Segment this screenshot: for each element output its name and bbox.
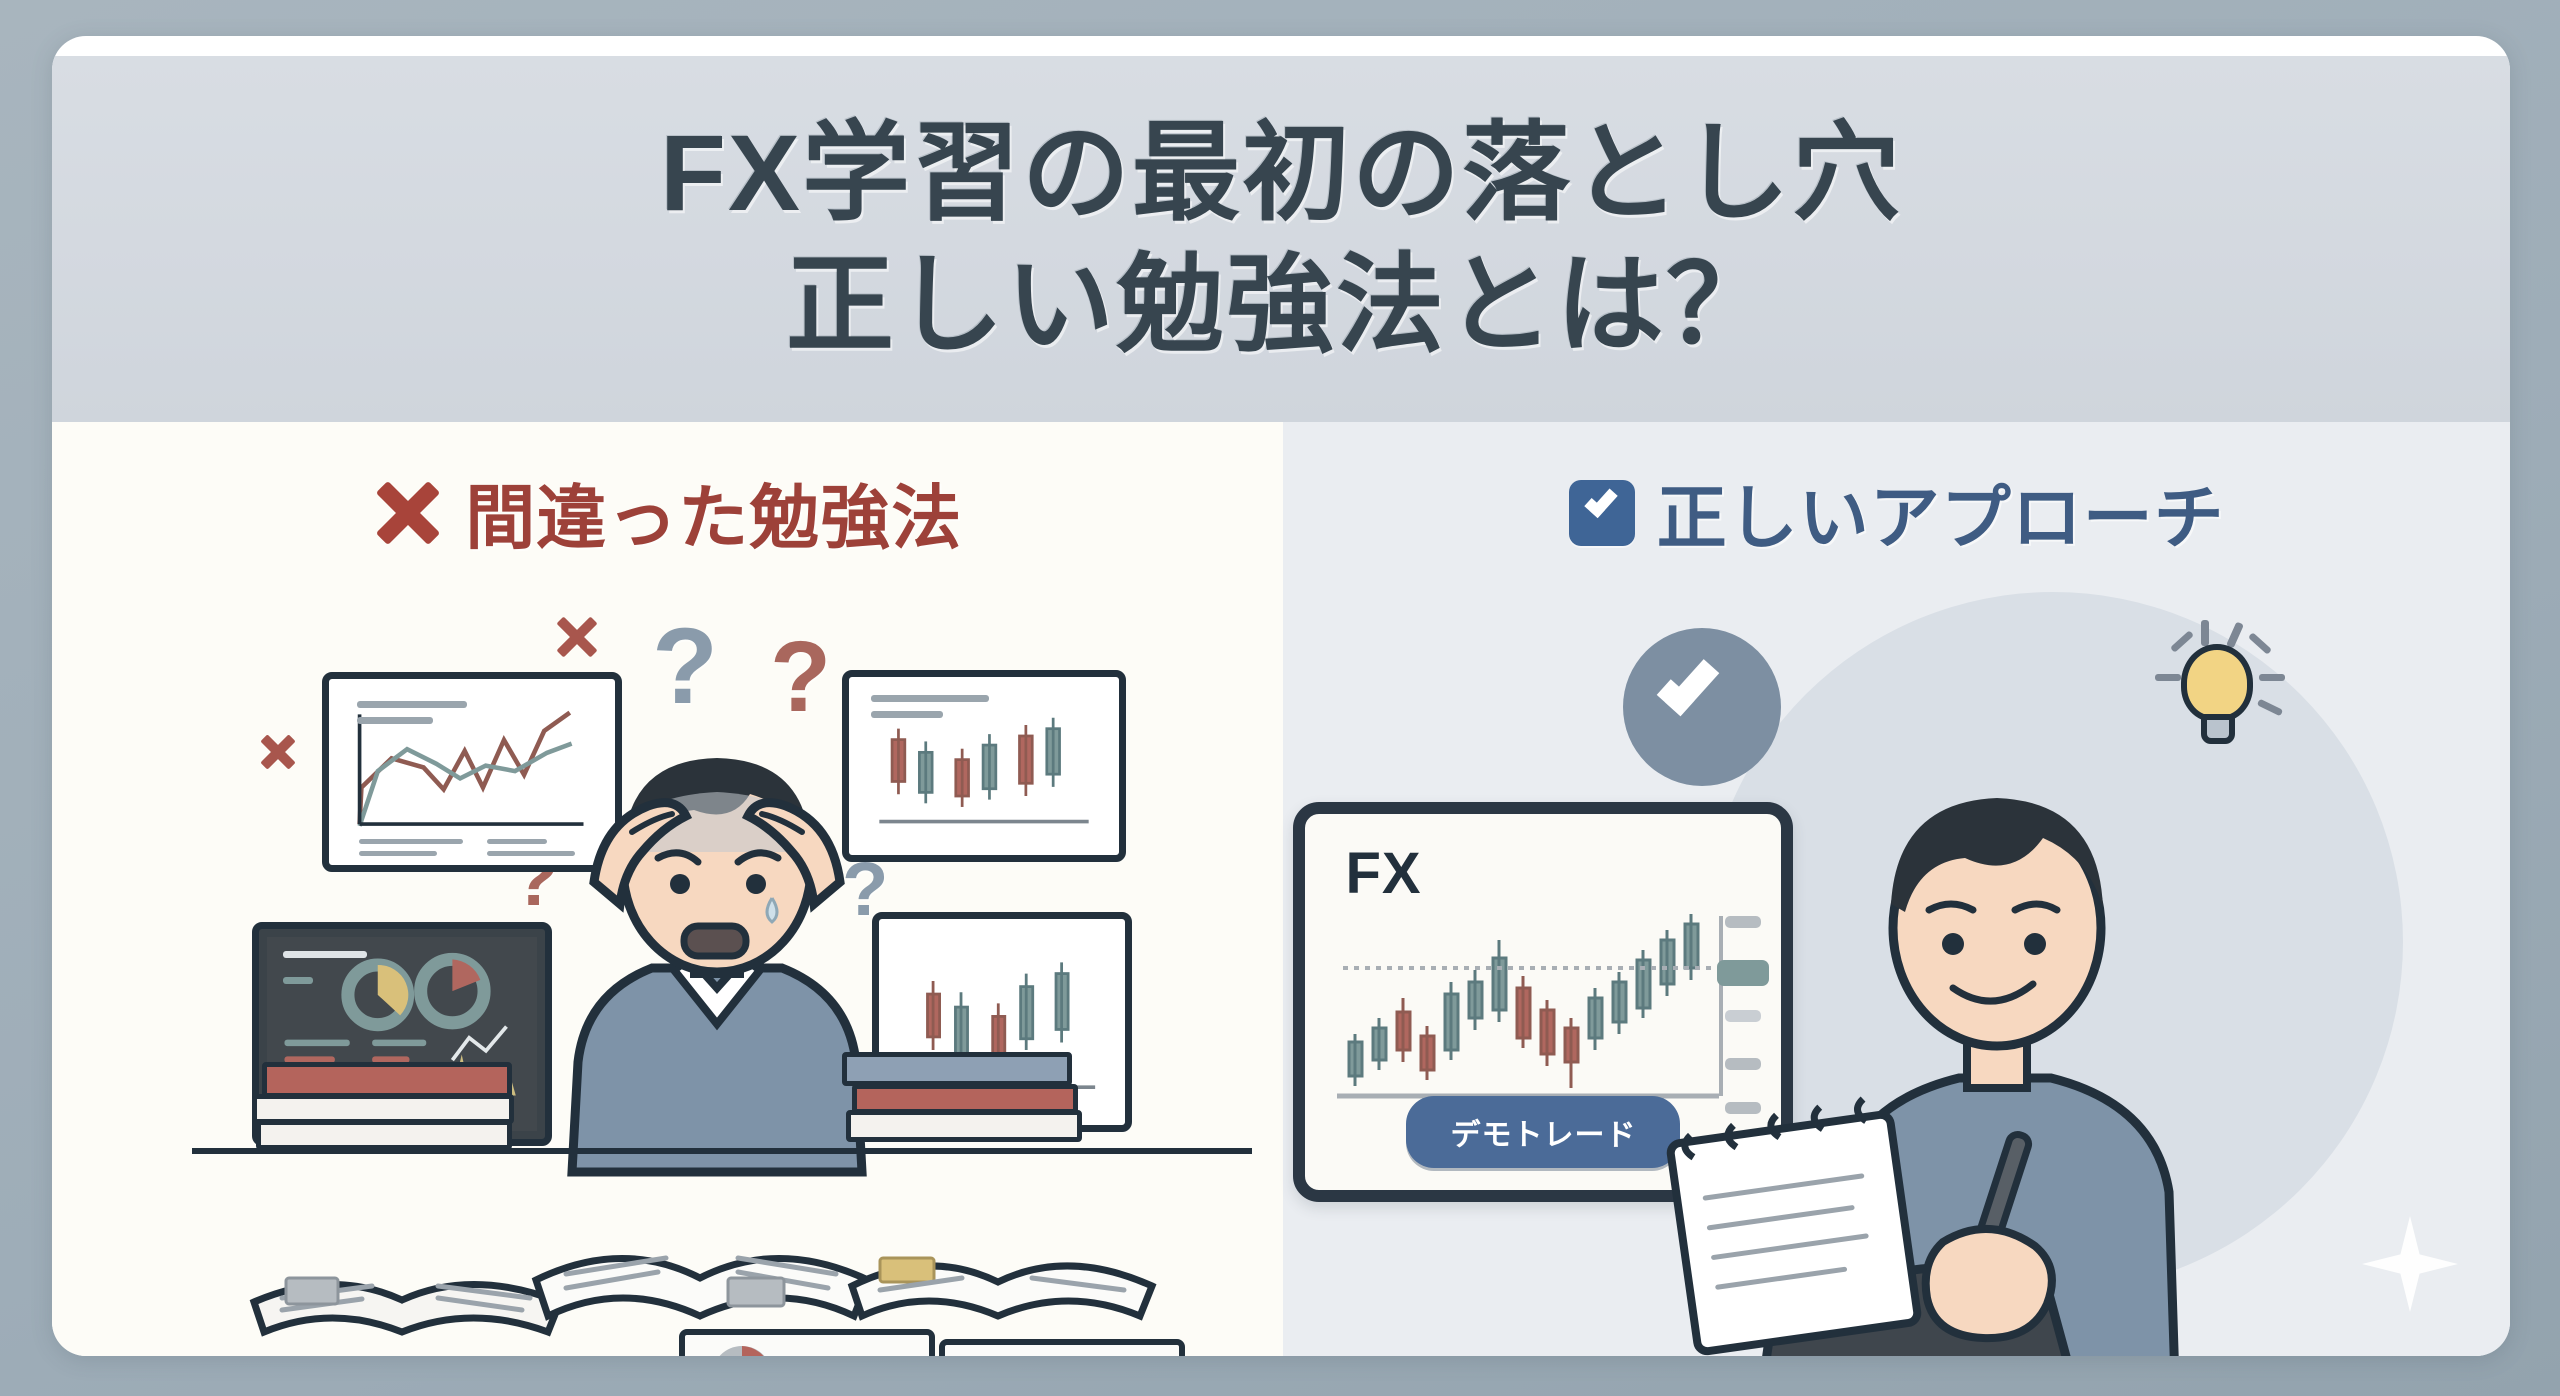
question-mark-icon: ? <box>652 612 718 720</box>
report-sheet-pie <box>672 1322 942 1356</box>
page-title-line-1: FX学習の最初の落とし穴 <box>660 107 1902 239</box>
lightbulb-icon <box>2163 634 2273 754</box>
check-box-icon <box>1569 480 1635 546</box>
report-sheet-chart <box>932 1332 1192 1356</box>
tablet-candle-chart <box>1329 910 1749 1110</box>
demo-trade-button[interactable]: デモトレード <box>1406 1096 1680 1168</box>
x-mark-icon <box>373 478 443 548</box>
right-panel-heading: 正しいアプローチ <box>1283 462 2510 563</box>
panel-wrong-method: 間違った勉強法 ? ? ? ? <box>52 422 1283 1356</box>
title-band: FX学習の最初の落とし穴 正しい勉強法とは？ <box>52 56 2510 422</box>
book-stacked <box>842 1052 1072 1086</box>
panel-correct-approach: 正しいアプローチ FX <box>1283 422 2510 1356</box>
infographic-card: FX学習の最初の落とし穴 正しい勉強法とは？ 間違った勉強法 ? ? ? ? <box>52 36 2510 1356</box>
page-title-line-2: 正しい勉強法とは？ <box>786 239 1776 371</box>
comparison-panels: 間違った勉強法 ? ? ? ? <box>52 422 2510 1356</box>
hand-with-pen-illustration <box>1883 1122 2143 1352</box>
open-book-report <box>842 1182 1162 1332</box>
book-stacked <box>846 1110 1082 1142</box>
tablet-fx-label: FX <box>1345 840 1421 907</box>
left-panel-heading-label: 間違った勉強法 <box>465 462 962 563</box>
book-stacked <box>262 1062 512 1098</box>
supporting-hand-illustration <box>1643 1322 1873 1356</box>
right-panel-heading-label: 正しいアプローチ <box>1657 462 2225 563</box>
question-mark-icon: ? <box>770 627 831 727</box>
open-book <box>522 1162 882 1342</box>
left-panel-heading: 間違った勉強法 <box>52 462 1283 563</box>
book-stacked <box>256 1120 512 1150</box>
